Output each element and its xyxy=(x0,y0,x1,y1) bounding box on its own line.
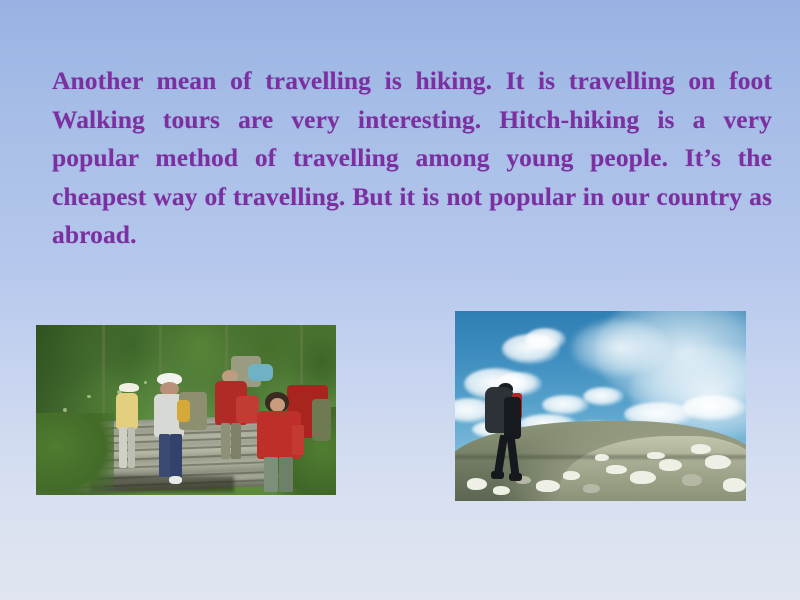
hiker-leg xyxy=(507,434,520,476)
body-paragraph: Another mean of travelling is hiking. It… xyxy=(52,62,772,255)
photo-hiker-sky-ridge xyxy=(455,311,746,501)
hiker-figure xyxy=(147,373,219,485)
rock xyxy=(691,444,711,454)
body-text-block: Another mean of travelling is hiking. It… xyxy=(52,62,772,255)
hiker-leg xyxy=(221,423,231,459)
tree-trunk xyxy=(102,325,105,427)
rock xyxy=(682,474,702,485)
rock xyxy=(659,459,682,470)
slide-canvas: Another mean of travelling is hiking. It… xyxy=(0,0,800,600)
cloud xyxy=(571,319,670,376)
hiker-arm xyxy=(292,425,304,455)
photo-left-content xyxy=(36,325,336,495)
hiker-boot xyxy=(169,476,182,484)
rock xyxy=(606,465,626,475)
hiker-figure xyxy=(111,383,153,471)
hiker-face xyxy=(270,398,285,412)
hiker-leg xyxy=(494,434,508,474)
hiker-leg xyxy=(279,457,293,492)
hiker-torso xyxy=(116,393,138,428)
cloud xyxy=(583,387,624,406)
rock xyxy=(723,478,746,491)
hiker-figure xyxy=(252,376,336,492)
cloud xyxy=(525,328,566,351)
rock xyxy=(563,471,580,481)
rock xyxy=(705,455,731,468)
rock xyxy=(595,454,610,462)
hiker-leg xyxy=(231,423,241,459)
cloud xyxy=(682,395,746,422)
hiker-cap xyxy=(119,383,138,392)
hiker-backpack-frame xyxy=(312,399,330,441)
hiker-leg xyxy=(159,434,171,477)
hiker-torso xyxy=(504,397,521,438)
hiker-leg xyxy=(264,457,278,492)
rock xyxy=(647,452,664,460)
hiker-silhouette xyxy=(481,383,545,482)
hiker-boot xyxy=(509,473,522,481)
photo-right-content xyxy=(455,311,746,501)
hiker-leg xyxy=(119,427,127,468)
hiker-boot xyxy=(491,471,504,479)
rock xyxy=(630,471,656,484)
hiker-backpack-strap xyxy=(177,400,190,422)
hiker-leg xyxy=(128,427,136,468)
photo-hikers-forest-boardwalk xyxy=(36,325,336,495)
grass-left xyxy=(36,413,114,495)
hiker-leg xyxy=(170,434,182,479)
foliage-highlight xyxy=(87,395,91,398)
